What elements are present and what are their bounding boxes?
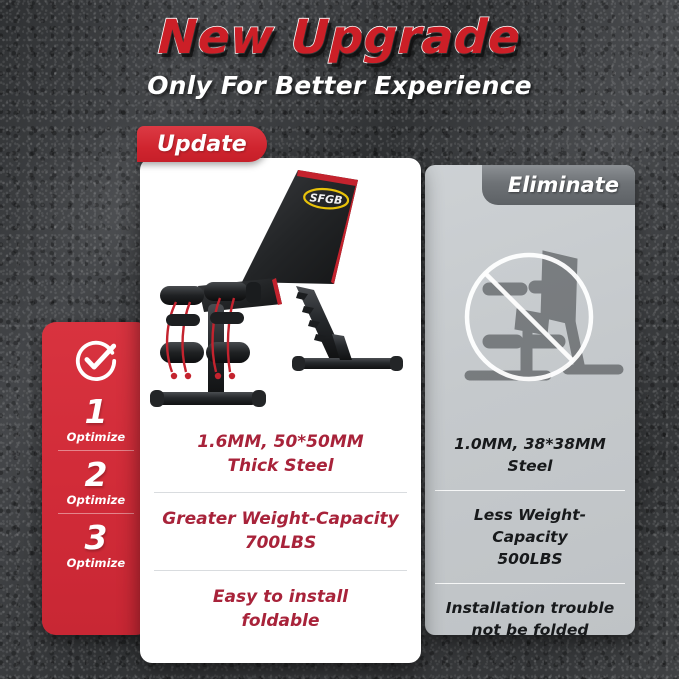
step-number: 1: [58, 395, 134, 428]
update-column: Update: [140, 158, 421, 663]
spec-line: 1.6MM, 50*50MM: [158, 430, 403, 454]
eliminate-badge-label: Eliminate: [508, 173, 619, 197]
spec-row: Installation trouble not be folded: [435, 583, 625, 654]
spec-line: Steel: [439, 455, 621, 477]
spec-line: 700LBS: [158, 531, 403, 555]
step-label: Optimize: [58, 430, 134, 444]
spec-row: 1.0MM, 38*38MM Steel: [435, 420, 625, 490]
page-title: New Upgrade: [157, 14, 521, 63]
spec-line: Installation trouble: [439, 597, 621, 619]
step-label: Optimize: [58, 493, 134, 507]
page-subtitle: Only For Better Experience: [0, 71, 679, 100]
update-badge-label: Update: [157, 132, 247, 157]
optimize-panel: 1 Optimize 2 Optimize 3 Optimize: [42, 322, 150, 635]
spec-row: Greater Weight-Capacity 700LBS: [154, 492, 407, 569]
adjustable-weight-bench-photo: SFGB: [146, 164, 415, 414]
faded-weight-bench-photo: [425, 217, 635, 417]
spec-row: Easy to install foldable: [154, 570, 407, 647]
step-label: Optimize: [58, 556, 134, 570]
spec-line: Easy to install: [158, 585, 403, 609]
step-number: 3: [58, 521, 134, 554]
step-number: 2: [58, 458, 134, 491]
spec-line: Less Weight-Capacity: [439, 504, 621, 548]
spec-line: 1.0MM, 38*38MM: [439, 433, 621, 455]
spec-line: Greater Weight-Capacity: [158, 507, 403, 531]
header: New Upgrade Only For Better Experience: [0, 14, 679, 100]
eliminate-column: Eliminate: [425, 165, 635, 635]
eliminate-spec-list: 1.0MM, 38*38MM Steel Less Weight-Capacit…: [435, 420, 625, 654]
update-badge: Update: [137, 126, 267, 162]
optimize-step-1: 1 Optimize: [58, 388, 134, 450]
spec-line: Thick Steel: [158, 454, 403, 478]
spec-line: 500LBS: [439, 548, 621, 570]
spec-row: Less Weight-Capacity 500LBS: [435, 490, 625, 583]
spec-line: not be folded: [439, 619, 621, 641]
update-spec-list: 1.6MM, 50*50MM Thick Steel Greater Weigh…: [154, 416, 407, 647]
eliminate-badge: Eliminate: [482, 165, 635, 205]
spec-line: foldable: [158, 609, 403, 633]
infographic-stage: New Upgrade Only For Better Experience 1…: [0, 0, 679, 679]
optimize-step-2: 2 Optimize: [58, 450, 134, 513]
optimize-step-3: 3 Optimize: [58, 513, 134, 576]
spec-row: 1.6MM, 50*50MM Thick Steel: [154, 416, 407, 492]
check-circle-icon: [73, 336, 119, 382]
